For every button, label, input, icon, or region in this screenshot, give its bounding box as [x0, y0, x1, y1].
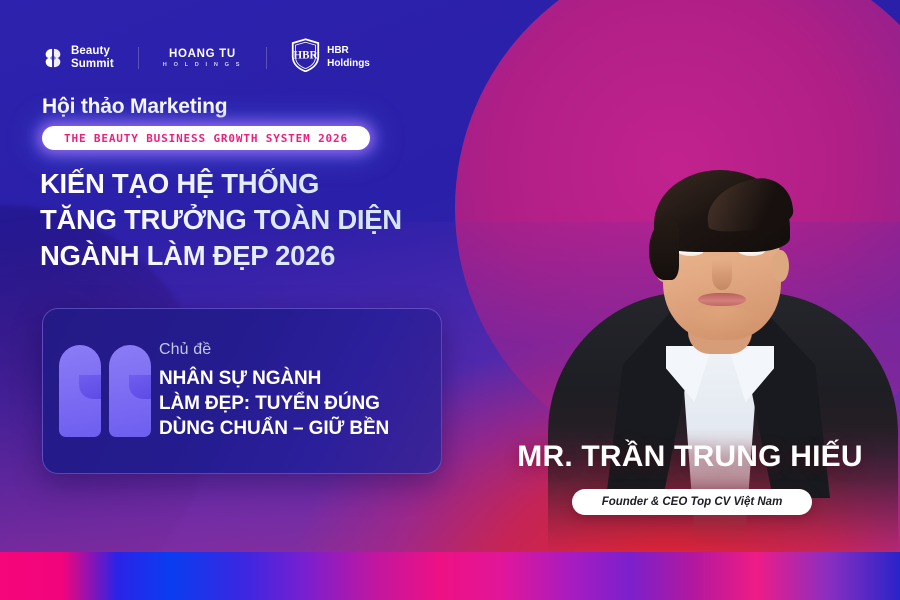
logo-beauty-summit-line1: Beauty: [71, 45, 110, 57]
speaker-role-badge: Founder & CEO Top CV Việt Nam: [572, 489, 812, 515]
logo-divider-2: [266, 47, 267, 69]
headline-line-2: TĂNG TRƯỞNG TOÀN DIỆN: [40, 202, 460, 238]
page-title: KIẾN TẠO HỆ THỐNG TĂNG TRƯỞNG TOÀN DIỆN …: [40, 166, 460, 273]
logo-hoang-tu-sub: H O L D I N G S: [163, 62, 242, 68]
event-kicker: Hội thảo Marketing: [42, 95, 227, 119]
logo-hbr-line2: Holdings: [327, 58, 370, 69]
speaker-role-label: Founder & CEO Top CV Việt Nam: [602, 496, 783, 508]
logo-beauty-summit[interactable]: Beauty Summit: [42, 45, 114, 69]
speaker-portrait: [520, 32, 900, 552]
quotation-mark-icon: [57, 345, 153, 437]
topic-card: Chủ đề NHÂN SỰ NGÀNH LÀM ĐẸP: TUYỂN ĐÚNG…: [42, 308, 442, 474]
shield-icon: HBR: [291, 38, 320, 77]
logo-beauty-summit-line2: Summit: [71, 58, 114, 70]
topic-line-3: DÙNG CHUẨN – GIỮ BỀN: [159, 416, 425, 441]
logo-hbr-line1: HBR: [327, 45, 349, 56]
portrait-hair-side: [649, 222, 679, 280]
portrait-mouth: [698, 293, 746, 306]
logo-divider-1: [138, 47, 139, 69]
quotation-mark-right: [109, 345, 151, 437]
logo-row: Beauty Summit HOANG TU H O L D I N G S H…: [42, 38, 370, 77]
logo-hoang-tu-main: HOANG TU: [169, 48, 236, 60]
petal-mark-icon: [42, 47, 64, 69]
logo-hbr-text: HBR Holdings: [327, 45, 370, 70]
portrait-nose: [712, 260, 732, 290]
headline-line-3: NGÀNH LÀM ĐẸP 2026: [40, 238, 460, 274]
bottom-color-strip: [0, 552, 900, 600]
topic-line-2: LÀM ĐẸP: TUYỂN ĐÚNG: [159, 391, 425, 416]
portrait-chin-shade: [686, 306, 758, 334]
topic-label: Chủ đề: [159, 341, 425, 359]
logo-hbr-holdings[interactable]: HBR HBR Holdings: [291, 38, 370, 77]
logo-beauty-summit-text: Beauty Summit: [71, 45, 114, 69]
program-badge[interactable]: THE BEAUTY BUSINESS GR0WTH SYSTEM 2026: [42, 126, 370, 150]
program-badge-label: THE BEAUTY BUSINESS GR0WTH SYSTEM 2026: [64, 132, 348, 145]
svg-text:HBR: HBR: [294, 49, 319, 61]
headline-line-1: KIẾN TẠO HỆ THỐNG: [40, 166, 460, 202]
event-promo-banner: Beauty Summit HOANG TU H O L D I N G S H…: [0, 0, 900, 600]
topic-card-body: Chủ đề NHÂN SỰ NGÀNH LÀM ĐẸP: TUYỂN ĐÚNG…: [159, 341, 425, 442]
speaker-name: MR. TRẦN TRUNG HIẾU: [498, 440, 882, 474]
quotation-mark-left: [59, 345, 101, 437]
logo-hoang-tu-holdings[interactable]: HOANG TU H O L D I N G S: [163, 48, 242, 68]
topic-line-1: NHÂN SỰ NGÀNH: [159, 366, 425, 391]
portrait-ear-right: [772, 250, 789, 282]
